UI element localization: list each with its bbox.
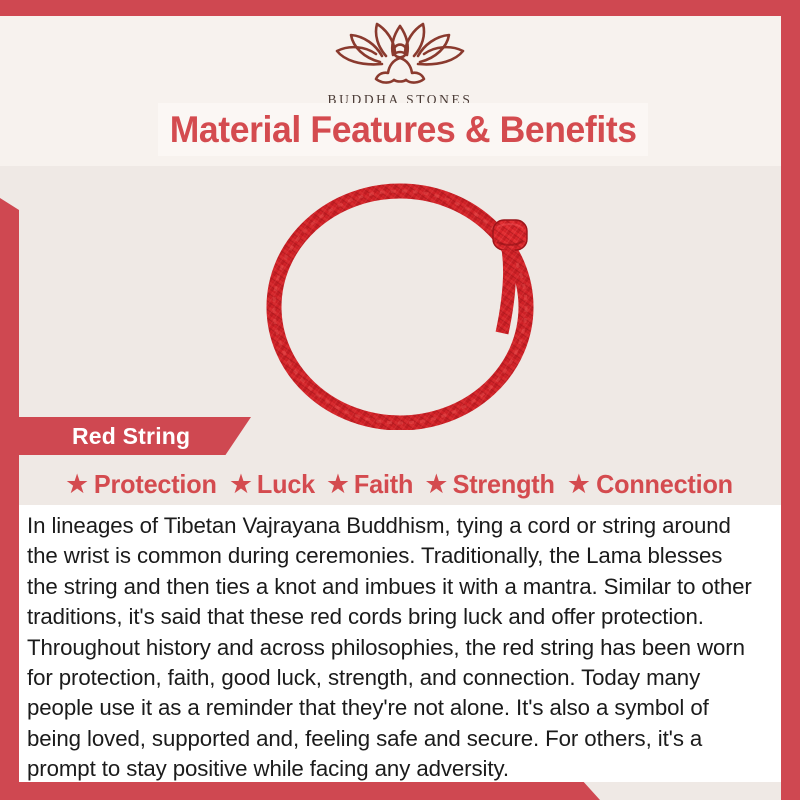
title-band: Material Features & Benefits: [158, 103, 648, 156]
feature-label: Protection: [94, 469, 217, 500]
red-string-bracelet-illustration: [250, 165, 580, 430]
feature-item-strength: ★ Strength: [424, 469, 557, 500]
star-icon: ★: [65, 471, 89, 498]
infographic-page: BUDDHA STONES Material Features & Benefi…: [0, 0, 800, 800]
product-label: Red String: [72, 423, 190, 450]
feature-list: ★ Protection ★ Luck ★ Faith ★ Strength ★…: [19, 466, 781, 502]
feature-item-connection: ★ Connection: [567, 469, 735, 500]
description-panel: In lineages of Tibetan Vajrayana Buddhis…: [19, 505, 781, 782]
feature-label: Connection: [596, 469, 733, 500]
star-icon: ★: [567, 471, 591, 498]
left-accent-bar: [0, 198, 19, 800]
feature-item-faith: ★ Faith: [326, 469, 414, 500]
right-accent-bar: [781, 0, 800, 800]
product-image: [250, 165, 580, 430]
lotus-meditation-icon: [320, 18, 480, 90]
top-accent-bar: [0, 0, 800, 16]
star-icon: ★: [326, 471, 350, 498]
star-icon: ★: [229, 471, 253, 498]
feature-label: Faith: [354, 469, 413, 500]
bracelet-knot: [493, 220, 527, 250]
description-text: In lineages of Tibetan Vajrayana Buddhis…: [27, 511, 752, 785]
feature-label: Strength: [453, 469, 555, 500]
feature-label: Luck: [257, 469, 315, 500]
star-icon: ★: [424, 471, 448, 498]
brand-logo: BUDDHA STONES: [0, 18, 800, 108]
feature-item-luck: ★ Luck: [229, 469, 316, 500]
page-title: Material Features & Benefits: [170, 109, 637, 151]
product-label-banner: Red String: [19, 417, 251, 455]
feature-item-protection: ★ Protection: [65, 469, 219, 500]
